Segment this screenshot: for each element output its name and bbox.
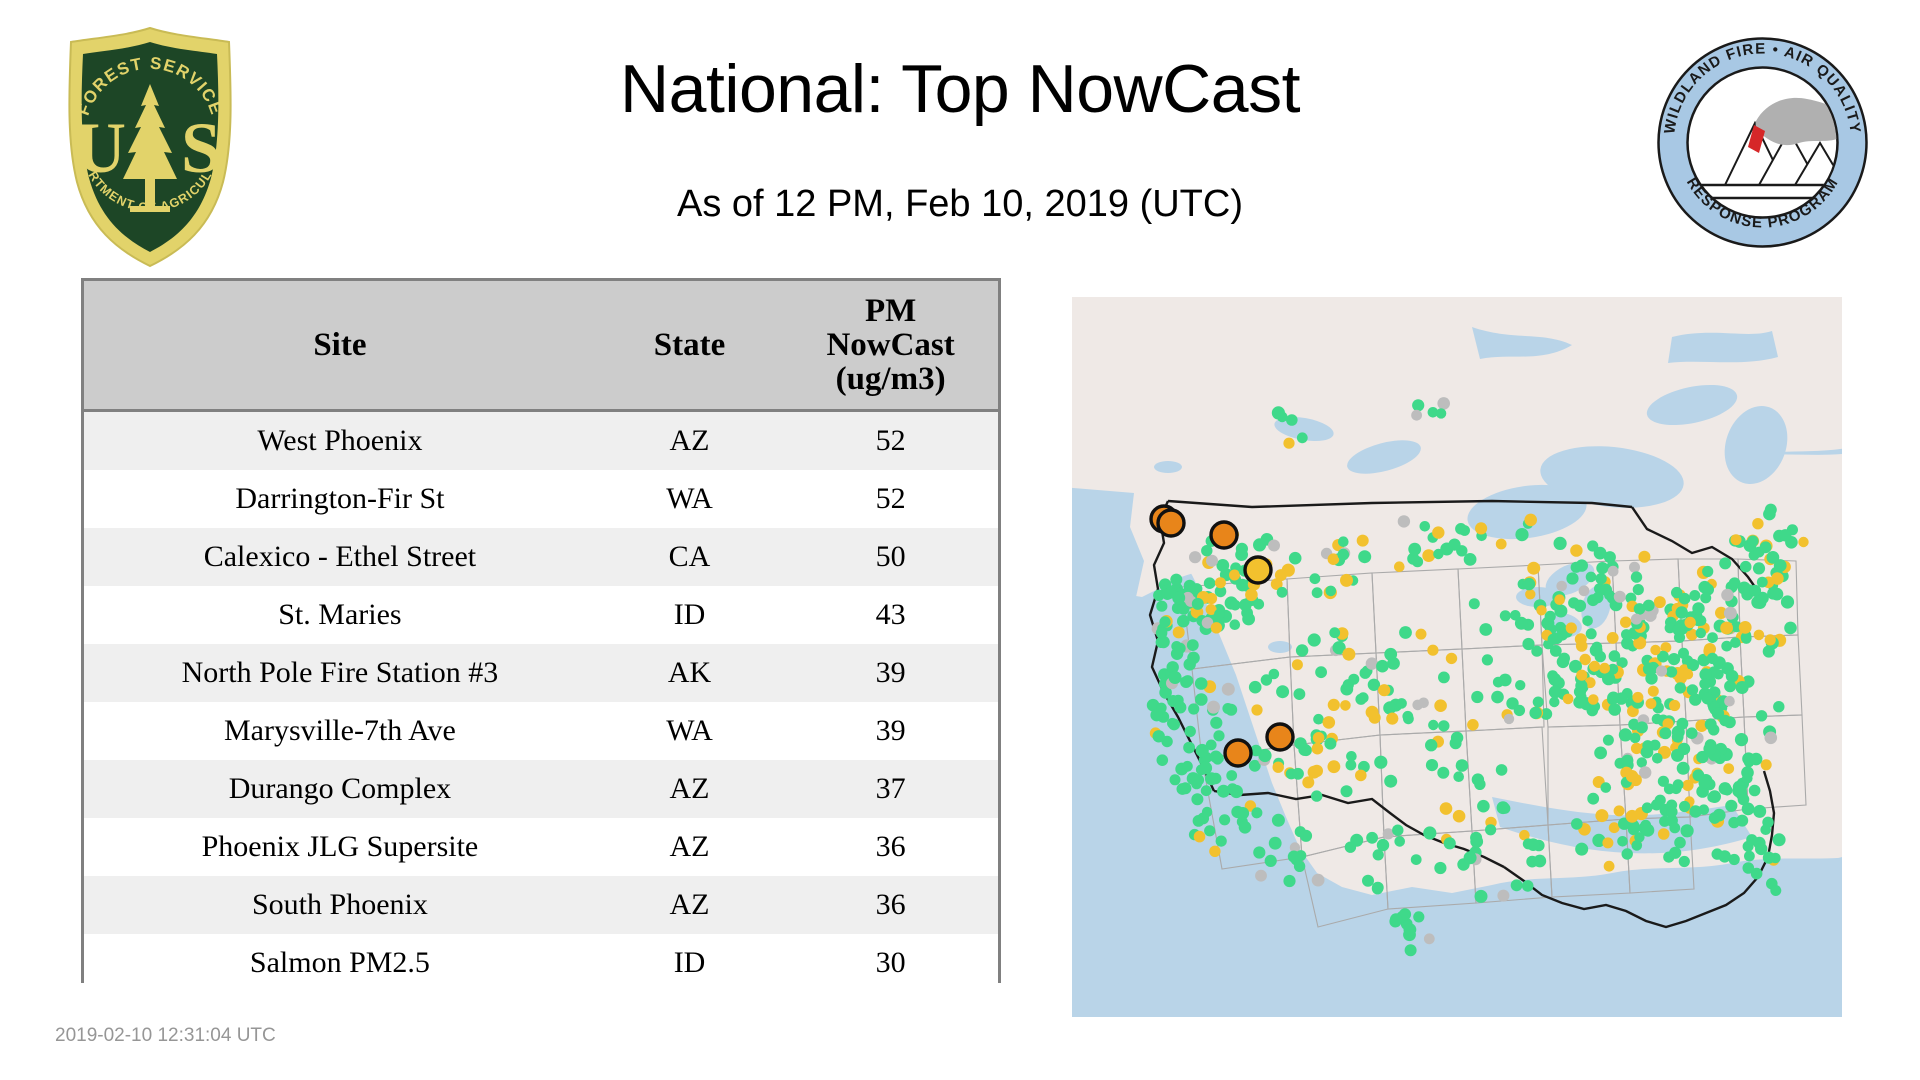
map-monitor-dot	[1549, 673, 1562, 686]
map-monitor-dot	[1522, 638, 1534, 650]
map-monitor-dot	[1707, 653, 1718, 664]
map-monitor-dot	[1312, 874, 1325, 887]
map-monitor-dot	[1724, 696, 1735, 707]
map-monitor-dot	[1172, 591, 1185, 604]
map-monitor-dot	[1744, 851, 1755, 862]
map-monitor-dot	[1313, 714, 1324, 725]
map-monitor-dot	[1340, 700, 1351, 711]
map-monitor-dot	[1582, 616, 1593, 627]
map-monitor-dot	[1392, 825, 1403, 836]
map-monitor-dot	[1728, 817, 1739, 828]
map-monitor-dot	[1312, 587, 1323, 598]
map-monitor-dot	[1631, 614, 1642, 625]
map-monitor-dot	[1515, 617, 1528, 630]
map-monitor-dot	[1386, 713, 1398, 725]
map-monitor-dot	[1150, 709, 1163, 722]
column-header-state: State	[596, 281, 783, 411]
map-monitor-dot	[1596, 562, 1608, 574]
map-monitor-dot	[1170, 574, 1182, 586]
map-monitor-dot	[1681, 824, 1694, 837]
map-monitor-dot	[1265, 855, 1277, 867]
map-monitor-dot	[1620, 617, 1631, 628]
map-monitor-dot	[1677, 718, 1689, 730]
map-monitor-dot	[1448, 539, 1460, 551]
pm-nowcast-cell: 52	[783, 470, 998, 528]
map-monitor-dot	[1675, 682, 1686, 693]
map-monitor-dot	[1721, 589, 1733, 601]
map-monitor-dot	[1192, 598, 1204, 610]
map-monitor-dot	[1719, 715, 1731, 727]
state-cell: AZ	[596, 760, 783, 818]
state-cell: ID	[596, 586, 783, 644]
map-monitor-dot	[1355, 770, 1367, 782]
map-monitor-dot	[1394, 561, 1405, 572]
map-monitor-dot	[1213, 730, 1224, 741]
map-monitor-dot	[1642, 740, 1653, 751]
map-monitor-dot	[1346, 760, 1357, 771]
table-row: Phoenix JLG SupersiteAZ36	[84, 818, 998, 876]
map-monitor-dot	[1679, 856, 1690, 867]
map-monitor-dot	[1348, 674, 1359, 685]
map-monitor-dot	[1294, 861, 1305, 872]
map-monitor-dot	[1767, 587, 1779, 599]
map-monitor-dot	[1549, 686, 1562, 699]
map-monitor-dot	[1740, 561, 1752, 573]
map-monitor-dot	[1637, 757, 1647, 767]
map-monitor-dot	[1237, 807, 1249, 819]
map-monitor-dot	[1752, 518, 1763, 529]
map-monitor-dot	[1586, 628, 1597, 639]
map-monitor-dot	[1313, 732, 1325, 744]
map-monitor-dot	[1592, 642, 1603, 653]
map-monitor-dot	[1698, 581, 1711, 594]
map-monitor-dot	[1396, 698, 1407, 709]
site-cell: Salmon PM2.5	[84, 934, 596, 992]
map-monitor-dot	[1255, 870, 1267, 882]
map-monitor-dot	[1194, 831, 1206, 843]
map-monitor-dot	[1761, 759, 1772, 770]
map-monitor-dot	[1358, 550, 1371, 563]
map-monitor-dot	[1765, 634, 1776, 645]
map-monitor-dot	[1438, 672, 1450, 684]
map-monitor-dot	[1404, 923, 1417, 936]
map-monitor-dot	[1477, 800, 1490, 813]
map-monitor-dot	[1283, 875, 1295, 887]
map-monitor-dot	[1773, 701, 1784, 712]
map-monitor-dot	[1725, 800, 1737, 812]
map-monitor-dot	[1654, 596, 1666, 608]
map-monitor-dot	[1427, 645, 1438, 656]
map-monitor-dot	[1515, 528, 1528, 541]
map-monitor-dot	[1515, 680, 1525, 690]
map-monitor-dot	[1366, 706, 1379, 719]
site-cell: Darrington-Fir St	[84, 470, 596, 528]
map-monitor-dot	[1587, 793, 1599, 805]
map-monitor-dot	[1511, 879, 1523, 891]
highlight-phoenix[interactable]	[1267, 724, 1293, 750]
map-monitor-dot	[1475, 890, 1488, 903]
map-monitor-dot	[1604, 590, 1615, 601]
map-monitor-dot	[1385, 701, 1396, 712]
map-monitor-dot	[1765, 732, 1778, 745]
map-monitor-dot	[1753, 805, 1766, 818]
map-monitor-dot	[1669, 823, 1680, 834]
map-monitor-dot	[1323, 716, 1336, 729]
map-monitor-dot	[1491, 691, 1504, 704]
map-monitor-dot	[1298, 744, 1310, 756]
map-monitor-dot	[1326, 586, 1337, 597]
map-monitor-dot	[1614, 591, 1626, 603]
map-monitor-dot	[1504, 714, 1514, 724]
highlight-marysville[interactable]	[1158, 510, 1184, 536]
map-monitor-dot	[1216, 836, 1227, 847]
site-cell: St. Maries	[84, 586, 596, 644]
map-monitor-dot	[1614, 805, 1625, 816]
map-monitor-dot	[1666, 666, 1677, 677]
table-row: St. MariesID43	[84, 586, 998, 644]
map-monitor-dot	[1209, 846, 1220, 857]
map-monitor-dot	[1479, 623, 1492, 636]
map-monitor-dot	[1607, 692, 1620, 705]
map-monitor-dot	[1324, 738, 1336, 750]
map-monitor-dot	[1437, 767, 1449, 779]
pm-nowcast-cell: 43	[783, 586, 998, 644]
map-monitor-dot	[1556, 581, 1567, 592]
map-monitor-dot	[1212, 753, 1223, 764]
map-monitor-dot	[1703, 743, 1716, 756]
map-monitor-dot	[1687, 684, 1698, 695]
map-monitor-dot	[1219, 814, 1230, 825]
map-monitor-dot	[1549, 697, 1559, 707]
map-monitor-dot	[1514, 705, 1525, 716]
map-monitor-dot	[1195, 693, 1208, 706]
map-monitor-dot	[1338, 549, 1350, 561]
map-monitor-dot	[1588, 694, 1599, 705]
map-monitor-dot	[1629, 562, 1640, 573]
map-monitor-dot	[1689, 805, 1701, 817]
map-monitor-dot	[1296, 644, 1308, 656]
map-monitor-dot	[1425, 739, 1437, 751]
map-monitor-dot	[1214, 609, 1225, 620]
map-monitor-dot	[1434, 699, 1447, 712]
map-monitor-dot	[1638, 551, 1650, 563]
map-monitor-dot	[1622, 848, 1633, 859]
map-monitor-dot	[1362, 875, 1374, 887]
map-monitor-dot	[1211, 622, 1222, 633]
map-monitor-dot	[1469, 598, 1480, 609]
map-monitor-dot	[1563, 694, 1574, 705]
map-monitor-dot	[1533, 855, 1546, 868]
map-monitor-dot	[1328, 553, 1340, 565]
map-monitor-dot	[1724, 680, 1736, 692]
map-monitor-dot	[1621, 629, 1632, 640]
map-monitor-dot	[1416, 629, 1427, 640]
map-monitor-dot	[1384, 648, 1397, 661]
map-monitor-dot	[1742, 773, 1753, 784]
map-monitor-dot	[1739, 621, 1752, 634]
map-monitor-dot	[1297, 432, 1308, 443]
map-monitor-dot	[1672, 731, 1684, 743]
map-monitor-dot	[1602, 837, 1613, 848]
map-monitor-dot	[1157, 754, 1169, 766]
map-monitor-dot	[1428, 720, 1438, 730]
map-monitor-dot	[1566, 572, 1578, 584]
page-title: National: Top NowCast	[0, 55, 1920, 123]
map-monitor-dot	[1731, 534, 1742, 545]
site-cell: South Phoenix	[84, 876, 596, 934]
map-monitor-dot	[1705, 718, 1717, 730]
map-monitor-dot	[1345, 842, 1356, 853]
map-monitor-dot	[1771, 572, 1784, 585]
map-monitor-dot	[1341, 785, 1353, 797]
map-monitor-dot	[1524, 514, 1537, 527]
map-monitor-dot	[1315, 666, 1327, 678]
map-monitor-dot	[1646, 698, 1657, 709]
map-monitor-dot	[1251, 808, 1261, 818]
map-monitor-dot	[1177, 615, 1190, 628]
map-monitor-dot	[1536, 605, 1546, 615]
map-monitor-dot	[1423, 826, 1436, 839]
highlight-calexico[interactable]	[1225, 740, 1251, 766]
map-monitor-dot	[1438, 720, 1449, 731]
map-monitor-dot	[1545, 611, 1556, 622]
map-monitor-dot	[1601, 782, 1612, 793]
site-cell: West Phoenix	[84, 411, 596, 471]
map-monitor-dot	[1729, 854, 1740, 865]
top-nowcast-table: Site State PM NowCast (ug/m3) West Phoen…	[84, 281, 998, 992]
map-monitor-dot	[1485, 824, 1496, 835]
map-monitor-dot	[1673, 624, 1685, 636]
map-monitor-dot	[1736, 681, 1749, 694]
map-monitor-dot	[1592, 593, 1603, 604]
table-row: South PhoenixAZ36	[84, 876, 998, 934]
map-monitor-dot	[1595, 651, 1606, 662]
map-monitor-dot	[1497, 890, 1509, 902]
map-monitor-dot	[1767, 551, 1780, 564]
map-monitor-dot	[1579, 585, 1590, 596]
map-monitor-dot	[1676, 606, 1688, 618]
map-monitor-dot	[1433, 549, 1443, 559]
map-monitor-dot	[1273, 762, 1284, 773]
map-monitor-dot	[1204, 577, 1216, 589]
map-monitor-dot	[1719, 782, 1732, 795]
map-monitor-dot	[1372, 883, 1383, 894]
map-monitor-dot	[1522, 880, 1534, 892]
map-monitor-dot	[1437, 397, 1450, 410]
map-monitor-dot	[1310, 573, 1321, 584]
map-monitor-dot	[1187, 639, 1199, 651]
map-monitor-dot	[1700, 592, 1711, 603]
map-monitor-dot	[1548, 634, 1559, 645]
map-monitor-dot	[1451, 732, 1463, 744]
map-monitor-dot	[1378, 684, 1390, 696]
map-monitor-dot	[1453, 771, 1464, 782]
highlight-st-maries[interactable]	[1211, 522, 1237, 548]
map-monitor-dot	[1269, 837, 1282, 850]
map-monitor-dot	[1621, 755, 1633, 767]
map-monitor-dot	[1575, 633, 1587, 645]
map-monitor-dot	[1631, 571, 1642, 582]
map-monitor-dot	[1269, 669, 1280, 680]
map-monitor-dot	[1408, 543, 1421, 556]
map-monitor-dot	[1496, 764, 1508, 776]
map-monitor-dot	[1765, 504, 1777, 516]
map-monitor-dot	[1674, 837, 1686, 849]
map-monitor-dot	[1300, 830, 1312, 842]
map-monitor-dot	[1171, 648, 1183, 660]
map-monitor-dot	[1424, 933, 1435, 944]
map-monitor-dot	[1500, 610, 1511, 621]
map-monitor-dot	[1527, 838, 1540, 851]
map-monitor-dot	[1599, 663, 1610, 674]
map-monitor-dot	[1671, 749, 1684, 762]
map-monitor-dot	[1554, 605, 1567, 618]
map-monitor-dot	[1230, 600, 1241, 611]
map-monitor-dot	[1253, 846, 1265, 858]
map-monitor-dot	[1153, 730, 1165, 742]
state-cell: AZ	[596, 411, 783, 471]
map-monitor-dot	[1239, 821, 1252, 834]
map-monitor-dot	[1779, 529, 1791, 541]
map-monitor-dot	[1455, 523, 1467, 535]
map-monitor-dot	[1292, 659, 1303, 670]
map-monitor-dot	[1402, 711, 1413, 722]
table-row: West PhoenixAZ52	[84, 411, 998, 471]
map-monitor-dot	[1456, 759, 1469, 772]
map-monitor-dot	[1658, 828, 1670, 840]
map-monitor-dot	[1230, 785, 1243, 798]
map-monitor-dot	[1586, 572, 1597, 583]
map-monitor-dot	[1587, 540, 1598, 551]
map-monitor-dot	[1527, 562, 1540, 575]
map-monitor-dot	[1702, 693, 1714, 705]
map-monitor-dot	[1669, 847, 1681, 859]
map-monitor-dot	[1499, 674, 1512, 687]
map-monitor-dot	[1206, 555, 1218, 567]
map-monitor-dot	[1342, 648, 1355, 661]
table-row: North Pole Fire Station #3AK39	[84, 644, 998, 702]
map-monitor-dot	[1174, 701, 1186, 713]
map-monitor-dot	[1434, 862, 1446, 874]
map-monitor-dot	[1308, 766, 1321, 779]
map-monitor-dot	[1554, 537, 1567, 550]
map-monitor-dot	[1394, 836, 1405, 847]
state-cell: CA	[596, 528, 783, 586]
pm-nowcast-cell: 36	[783, 876, 998, 934]
map-monitor-dot	[1575, 843, 1588, 856]
map-monitor-dot	[1702, 566, 1713, 577]
map-monitor-dot	[1633, 584, 1644, 595]
map-monitor-dot	[1707, 632, 1718, 643]
map-monitor-dot	[1444, 837, 1456, 849]
map-monitor-dot	[1644, 609, 1657, 622]
map-monitor-dot	[1683, 669, 1694, 680]
table-header-row: Site State PM NowCast (ug/m3)	[84, 281, 998, 411]
map-monitor-dot	[1496, 539, 1507, 550]
map-monitor-dot	[1464, 851, 1477, 864]
map-monitor-dot	[1411, 410, 1422, 421]
national-aqi-monitor-map[interactable]	[1072, 297, 1842, 1017]
table-row: Marysville-7th AveWA39	[84, 702, 998, 760]
map-monitor-dot	[1193, 815, 1205, 827]
site-cell: Phoenix JLG Supersite	[84, 818, 596, 876]
map-monitor-dot	[1659, 727, 1671, 739]
map-monitor-dot	[1709, 812, 1721, 824]
map-monitor-dot	[1412, 399, 1424, 411]
map-monitor-dot	[1182, 675, 1193, 686]
map-monitor-dot	[1609, 650, 1621, 662]
map-monitor-dot	[1168, 719, 1180, 731]
map-monitor-dot	[1749, 785, 1761, 797]
map-monitor-dot	[1595, 573, 1606, 584]
site-cell: Marysville-7th Ave	[84, 702, 596, 760]
map-canvas[interactable]	[1072, 297, 1842, 1017]
map-monitor-dot	[1376, 660, 1389, 673]
map-monitor-dot	[1679, 593, 1691, 605]
map-monitor-dot	[1642, 802, 1653, 813]
map-monitor-dot	[1632, 692, 1643, 703]
map-monitor-dot	[1230, 619, 1241, 630]
map-monitor-dot	[1781, 595, 1794, 608]
map-monitor-dot	[1251, 704, 1262, 715]
map-monitor-dot	[1436, 408, 1446, 418]
map-monitor-dot	[1682, 780, 1693, 791]
map-monitor-dot	[1754, 630, 1765, 641]
highlight-salmon[interactable]	[1245, 557, 1271, 583]
table-row: Calexico - Ethel StreetCA50	[84, 528, 998, 586]
table-row: Darrington-Fir StWA52	[84, 470, 998, 528]
map-monitor-dot	[1608, 566, 1619, 577]
page-subtitle: As of 12 PM, Feb 10, 2019 (UTC)	[0, 185, 1920, 223]
map-monitor-dot	[1648, 686, 1659, 697]
map-monitor-dot	[1738, 794, 1750, 806]
map-monitor-dot	[1210, 717, 1222, 729]
map-monitor-dot	[1366, 657, 1378, 669]
map-monitor-dot	[1204, 825, 1215, 836]
map-monitor-dot	[1626, 770, 1638, 782]
map-monitor-dot	[1276, 685, 1289, 698]
map-monitor-dot	[1329, 627, 1340, 638]
map-monitor-dot	[1191, 793, 1203, 805]
map-monitor-dot	[1741, 633, 1752, 644]
map-monitor-dot	[1446, 653, 1457, 664]
map-monitor-dot	[1195, 677, 1208, 690]
map-monitor-dot	[1749, 585, 1761, 597]
map-monitor-dot	[1557, 656, 1570, 669]
map-monitor-dot	[1283, 438, 1294, 449]
map-monitor-dot	[1760, 824, 1771, 835]
map-monitor-dot	[1272, 406, 1285, 419]
map-monitor-dot	[1217, 785, 1230, 798]
map-monitor-dot	[1226, 770, 1237, 781]
map-monitor-dot	[1185, 726, 1196, 737]
map-monitor-dot	[1798, 537, 1808, 547]
map-monitor-dot	[1358, 692, 1369, 703]
map-monitor-dot	[1188, 703, 1199, 714]
pm-header-line-2: NowCast	[783, 328, 998, 362]
map-monitor-dot	[1432, 526, 1444, 538]
map-monitor-dot	[1608, 703, 1621, 716]
state-cell: AZ	[596, 818, 783, 876]
table-row: Durango ComplexAZ37	[84, 760, 998, 818]
map-monitor-dot	[1453, 810, 1466, 823]
map-monitor-dot	[1619, 728, 1632, 741]
column-header-pm-nowcast: PM NowCast (ug/m3)	[783, 281, 998, 411]
map-monitor-dot	[1750, 753, 1763, 766]
map-monitor-dot	[1422, 549, 1435, 562]
map-monitor-dot	[1216, 559, 1229, 572]
map-monitor-dot	[1420, 521, 1431, 532]
